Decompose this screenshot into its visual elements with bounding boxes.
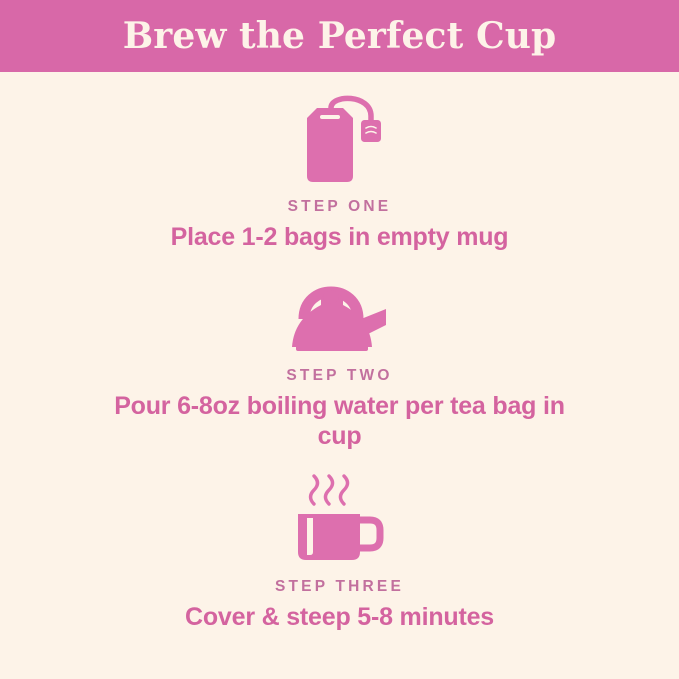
step-item-three: STEP THREE Cover & steep 5-8 minutes: [0, 452, 679, 633]
step-description-one: Place 1-2 bags in empty mug: [171, 222, 509, 253]
step-description-three: Cover & steep 5-8 minutes: [185, 602, 494, 633]
steaming-mug-icon: [288, 472, 392, 564]
header-banner: Brew the Perfect Cup: [0, 0, 679, 72]
step-label-one: STEP ONE: [288, 198, 392, 216]
step-label-three: STEP THREE: [275, 578, 404, 596]
step-label-two: STEP TWO: [286, 367, 392, 385]
brewing-instructions-infographic: Brew the Perfect Cup STEP ONE Place 1-2: [0, 0, 679, 679]
steps-list: STEP ONE Place 1-2 bags in empty mug: [0, 72, 679, 679]
kettle-icon: [282, 275, 398, 353]
tea-bag-icon: [285, 92, 395, 184]
page-title: Brew the Perfect Cup: [123, 18, 557, 54]
step-item-one: STEP ONE Place 1-2 bags in empty mug: [0, 72, 679, 253]
step-item-two: STEP TWO Pour 6-8oz boiling water per te…: [0, 253, 679, 452]
step-description-two: Pour 6-8oz boiling water per tea bag in …: [105, 391, 575, 452]
